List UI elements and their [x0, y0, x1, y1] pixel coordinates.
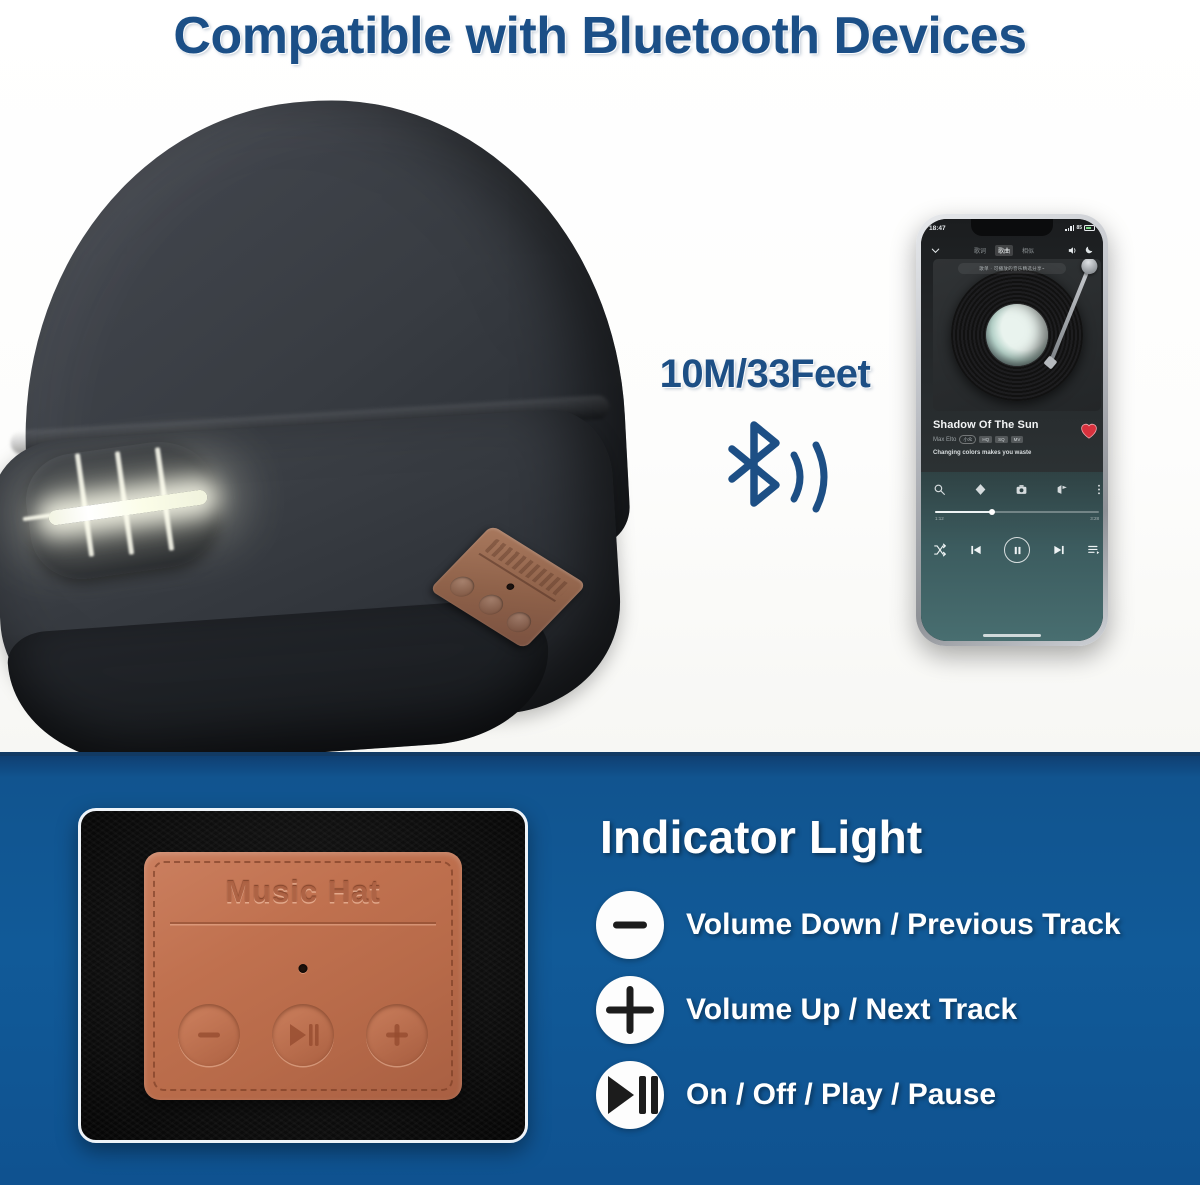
- track-meta: Max Elto 小众 HQ SQ MV: [933, 435, 1101, 444]
- minus-icon: [596, 891, 664, 959]
- range-label: 10M/33Feet: [620, 352, 910, 397]
- album-art[interactable]: [933, 259, 1101, 411]
- indicator-light-panel: Music Hat: [0, 752, 1200, 1185]
- patch-play-pause-button: [272, 1004, 334, 1066]
- vinyl-label: [986, 304, 1048, 366]
- player-nav-row: 歌词 歌曲 相似: [921, 241, 1103, 259]
- product-marketing-image: Compatible with Bluetooth Devices: [0, 0, 1200, 1200]
- legend-row-play-pause: On / Off / Play / Pause: [596, 1052, 1176, 1137]
- tab-song[interactable]: 歌曲: [995, 245, 1013, 256]
- patch-plus-button: [366, 1004, 428, 1066]
- legend-label: Volume Down / Previous Track: [686, 908, 1121, 942]
- more-icon[interactable]: [1097, 483, 1101, 496]
- button-legend: Volume Down / Previous Track Volume Up /…: [596, 882, 1176, 1137]
- play-pause-button[interactable]: [1004, 537, 1030, 563]
- elapsed-time: 1:12: [935, 516, 944, 521]
- progress-track[interactable]: [935, 511, 1099, 513]
- leather-patch: Music Hat: [144, 852, 462, 1100]
- phone-screen: 18:47 85 歌词 歌曲: [921, 219, 1103, 641]
- track-info: Shadow Of The Sun Max Elto 小众 HQ SQ MV C…: [933, 419, 1101, 456]
- signal-icon: [1065, 225, 1074, 231]
- play-pause-glyph: [604, 1072, 662, 1118]
- status-indicators: 85: [1065, 225, 1095, 231]
- legend-row-volume-up: Volume Up / Next Track: [596, 967, 1176, 1052]
- phone-notch: [971, 219, 1053, 236]
- plus-glyph: [605, 985, 655, 1035]
- smartphone-mockup: 18:47 85 歌词 歌曲: [916, 214, 1108, 646]
- current-lyric-line: Changing colors makes you waste: [933, 450, 1101, 456]
- progress-knob[interactable]: [989, 509, 995, 515]
- indicator-light-title: Indicator Light: [600, 810, 922, 864]
- battery-icon: [1084, 225, 1095, 231]
- progress-times: 1:12 3:28: [935, 516, 1099, 521]
- play-pause-icon: [286, 1020, 320, 1050]
- patch-divider-line: [170, 922, 436, 924]
- legend-label: On / Off / Play / Pause: [686, 1078, 996, 1112]
- page-title: Compatible with Bluetooth Devices: [0, 6, 1200, 66]
- player-tool-row: [933, 483, 1101, 496]
- playlist-icon[interactable]: [1087, 543, 1101, 557]
- player-controls: [933, 537, 1101, 563]
- share-icon[interactable]: [1056, 483, 1069, 496]
- moon-icon[interactable]: [1084, 245, 1094, 255]
- minus-icon: [194, 1020, 224, 1050]
- previous-track-icon[interactable]: [969, 543, 983, 557]
- leather-patch-closeup-photo: Music Hat: [78, 808, 528, 1143]
- track-tag: MV: [1011, 436, 1024, 443]
- hat-patch-plus-button: [502, 609, 536, 637]
- tab-lyrics[interactable]: 歌词: [974, 246, 986, 255]
- total-time: 3:28: [1090, 516, 1099, 521]
- hat-patch-led-dot: [505, 582, 516, 591]
- lyric-share-chip[interactable]: 歌单 · 可播放的音乐精选分享~: [958, 263, 1066, 274]
- pause-icon: [1012, 545, 1023, 556]
- status-time: 18:47: [929, 225, 946, 232]
- lyric-chip-text: 歌单 · 可播放的音乐精选分享~: [979, 266, 1044, 272]
- minus-glyph: [608, 903, 652, 947]
- search-icon[interactable]: [933, 483, 946, 496]
- plus-icon: [382, 1020, 412, 1050]
- plus-icon: [596, 976, 664, 1044]
- progress-fill: [935, 511, 992, 513]
- sound-effect-icon[interactable]: [1067, 245, 1078, 256]
- bluetooth-range-block: 10M/33Feet: [620, 352, 910, 543]
- legend-label: Volume Up / Next Track: [686, 993, 1017, 1027]
- favorite-heart-icon[interactable]: [1079, 421, 1099, 439]
- play-pause-icon: [596, 1061, 664, 1129]
- patch-minus-button: [178, 1004, 240, 1066]
- led-beanie-photo: [0, 95, 650, 735]
- track-tag: HQ: [979, 436, 992, 443]
- hat-patch-minus-button: [445, 573, 479, 601]
- patch-brand-text: Music Hat: [144, 874, 462, 910]
- track-tag: SQ: [995, 436, 1008, 443]
- track-title: Shadow Of The Sun: [933, 419, 1101, 431]
- camera-icon[interactable]: [1015, 483, 1028, 496]
- player-tabs: 歌词 歌曲 相似: [974, 245, 1034, 256]
- track-tag: 小众: [959, 435, 976, 444]
- diamond-icon[interactable]: [974, 483, 987, 496]
- track-artist[interactable]: Max Elto: [933, 437, 956, 443]
- playback-progress[interactable]: 1:12 3:28: [935, 511, 1099, 521]
- nav-actions: [1067, 245, 1094, 256]
- next-track-icon[interactable]: [1052, 543, 1066, 557]
- hat-patch-play-button: [473, 591, 507, 619]
- shuffle-icon[interactable]: [933, 543, 947, 557]
- patch-led-dot: [299, 964, 308, 973]
- battery-percent: 85: [1076, 225, 1082, 231]
- bluetooth-compatibility-panel: Compatible with Bluetooth Devices: [0, 0, 1200, 752]
- bluetooth-icon: [620, 411, 910, 543]
- home-indicator: [983, 634, 1041, 637]
- tab-similar[interactable]: 相似: [1022, 246, 1034, 255]
- legend-row-volume-down: Volume Down / Previous Track: [596, 882, 1176, 967]
- chevron-down-icon[interactable]: [930, 245, 941, 256]
